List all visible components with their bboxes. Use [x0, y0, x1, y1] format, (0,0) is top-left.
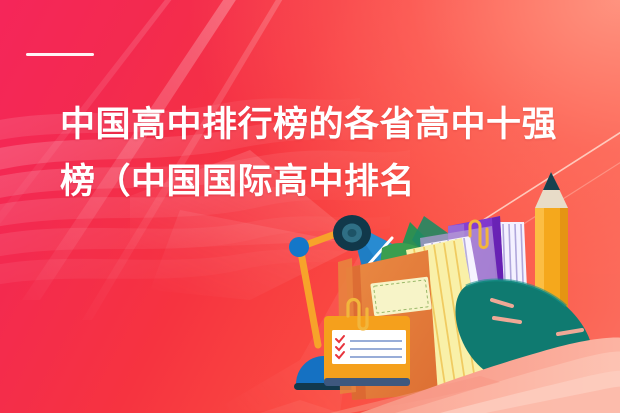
decorative-rule	[26, 53, 94, 56]
promo-banner: 中国高中排行榜的各省高中十强榜（中国国际高中排名	[0, 0, 620, 413]
lamp-joint	[289, 237, 309, 257]
checklist-card	[332, 330, 406, 364]
clipboard-bottom-bar	[324, 378, 410, 386]
lamp-bulb	[348, 229, 357, 237]
page-title: 中国高中排行榜的各省高中十强榜（中国国际高中排名	[60, 96, 570, 210]
